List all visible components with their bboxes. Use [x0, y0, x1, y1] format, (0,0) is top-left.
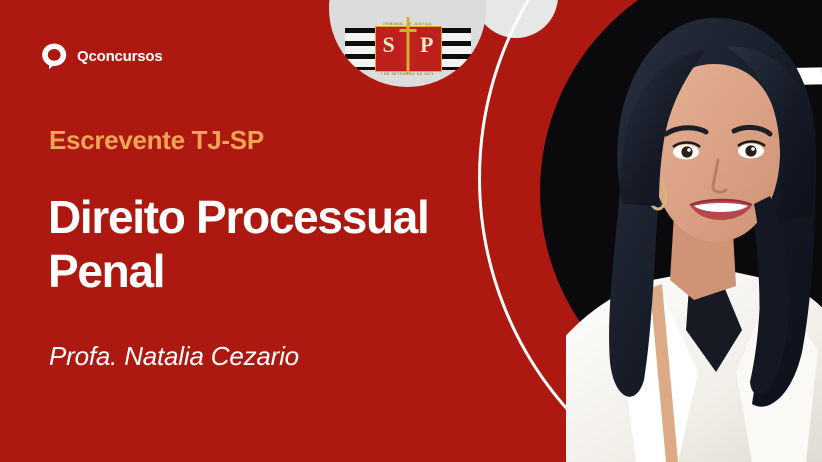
emblem-inner: TRIBUNAL DE JUSTIÇA S P I DE SETEMBRO DE… [345, 22, 471, 76]
qconcursos-speech-bubble-q-icon [41, 42, 68, 71]
emblem-letter-s: S [383, 34, 395, 56]
page-title: Direito Processual Penal [48, 190, 518, 299]
portrait-artwork [566, 0, 822, 462]
instructor-name: Profa. Natalia Cezario [49, 341, 299, 372]
course-eyebrow: Escrevente TJ-SP [49, 125, 264, 156]
tjsp-coat-of-arms-icon: TRIBUNAL DE JUSTIÇA S P I DE SETEMBRO DE… [329, 0, 486, 87]
course-thumbnail-slide: TRIBUNAL DE JUSTIÇA S P I DE SETEMBRO DE… [0, 0, 822, 462]
emblem-letter-p: P [420, 34, 433, 56]
sword-icon [406, 17, 409, 73]
qconcursos-logo[interactable]: Qconcursos [41, 42, 163, 71]
emblem-text-bottom: I DE SETEMBRO DE 1874 [345, 72, 471, 76]
logo-text: Qconcursos [77, 48, 163, 65]
instructor-portrait [566, 0, 822, 462]
